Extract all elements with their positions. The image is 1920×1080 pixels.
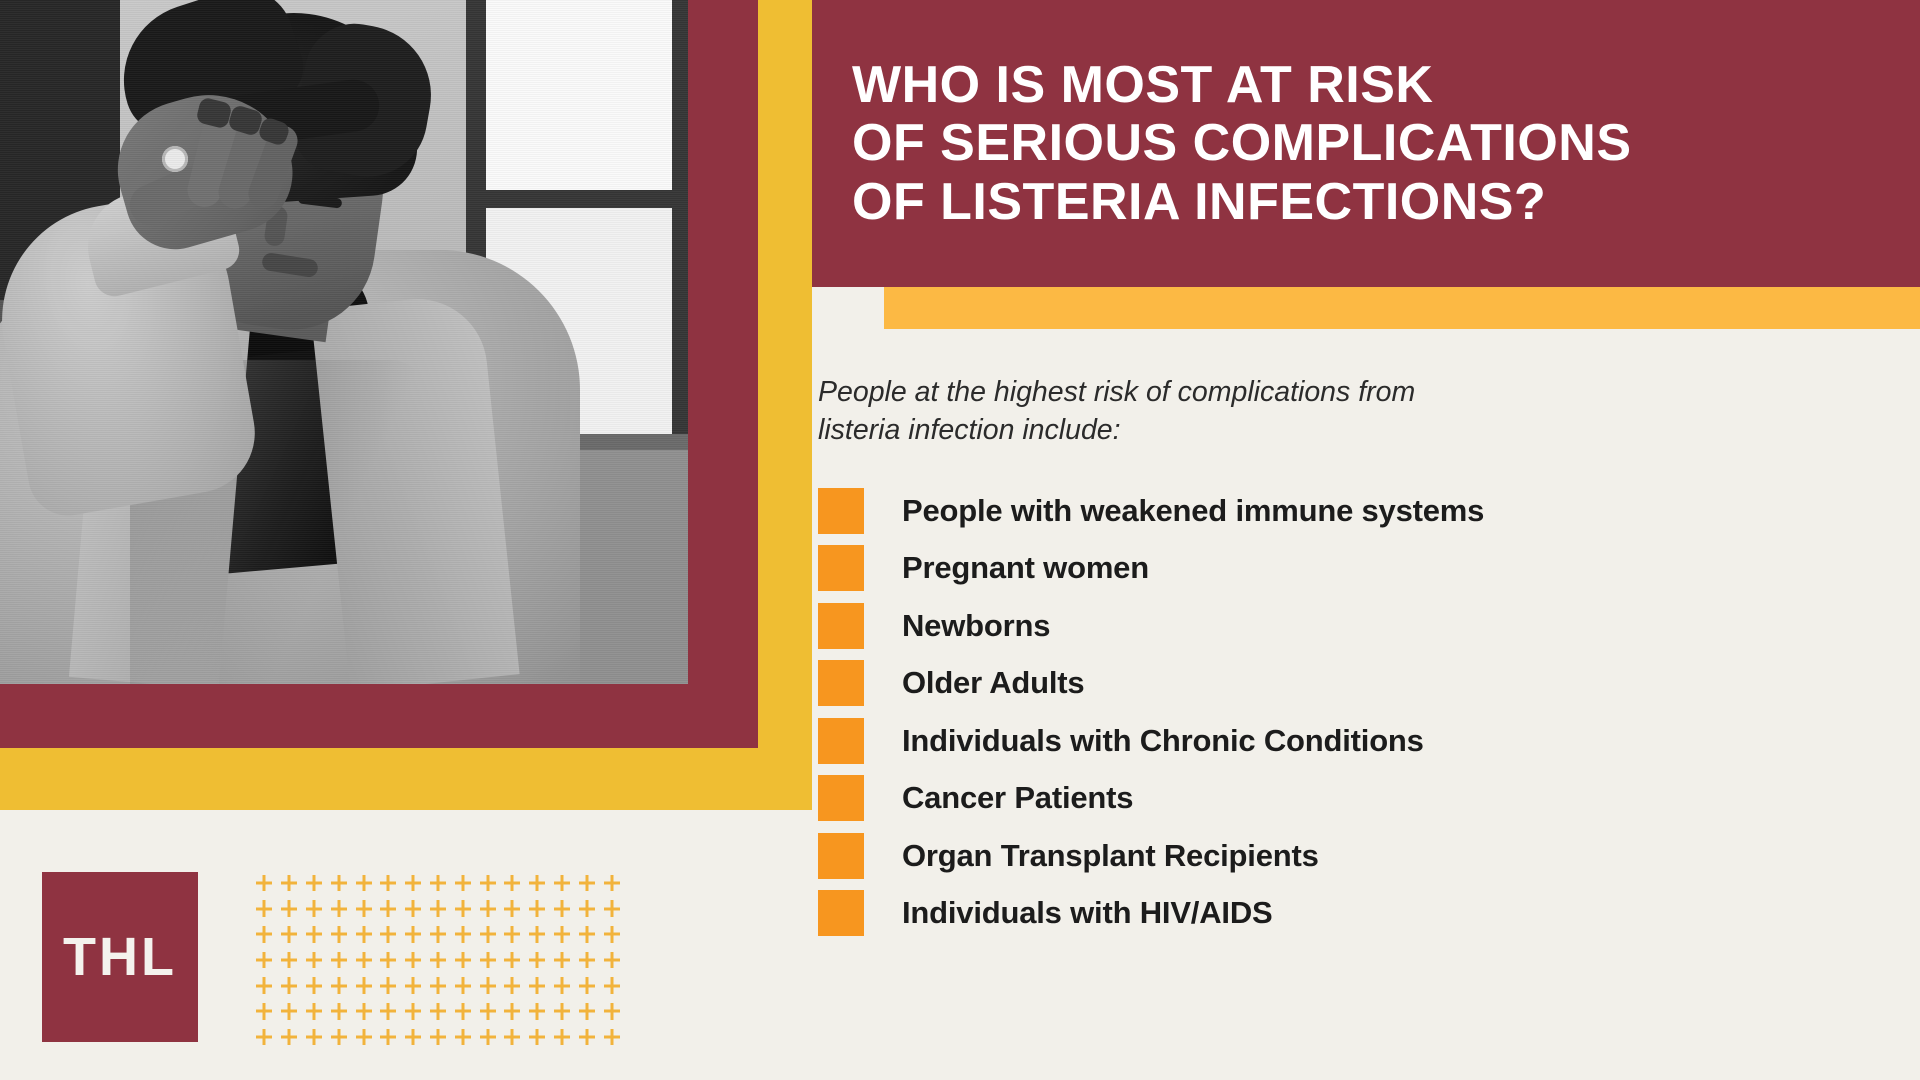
plus-icon <box>277 1024 302 1050</box>
plus-icon <box>426 973 451 999</box>
left-column: THL <box>0 0 812 1080</box>
plus-icon <box>525 896 550 922</box>
orange-square-bullet-icon <box>818 660 864 706</box>
plus-icon <box>450 921 475 947</box>
portrait-photo <box>0 0 688 684</box>
plus-icon <box>525 1024 550 1050</box>
plus-icon <box>475 947 500 973</box>
plus-icon <box>599 973 624 999</box>
plus-icon <box>550 1024 575 1050</box>
list-item-label: Older Adults <box>902 665 1084 701</box>
orange-square-bullet-icon <box>818 603 864 649</box>
orange-square-bullet-icon <box>818 718 864 764</box>
plus-icon <box>401 896 426 922</box>
list-item: Newborns <box>818 597 1908 655</box>
list-item: Pregnant women <box>818 540 1908 598</box>
plus-icon <box>450 947 475 973</box>
plus-icon <box>277 947 302 973</box>
plus-icon <box>450 870 475 896</box>
thl-logo[interactable]: THL <box>42 872 198 1042</box>
plus-icon <box>450 896 475 922</box>
plus-icon <box>376 947 401 973</box>
plus-icon <box>574 921 599 947</box>
plus-icon <box>351 947 376 973</box>
plus-icon <box>302 921 327 947</box>
plus-icon <box>426 896 451 922</box>
plus-icon <box>450 999 475 1025</box>
plus-icon <box>550 921 575 947</box>
list-item-label: Individuals with Chronic Conditions <box>902 723 1424 759</box>
title-block: WHO IS MOST AT RISK OF SERIOUS COMPLICAT… <box>812 0 1920 287</box>
plus-icon <box>351 999 376 1025</box>
plus-icon <box>426 1024 451 1050</box>
list-item-label: Cancer Patients <box>902 780 1133 816</box>
brand-row: THL <box>0 838 812 1080</box>
plus-icon <box>401 999 426 1025</box>
plus-icon <box>252 870 277 896</box>
plus-icon <box>277 973 302 999</box>
plus-icon <box>252 896 277 922</box>
plus-pattern-decoration <box>252 870 624 1050</box>
plus-icon <box>302 896 327 922</box>
plus-icon <box>475 1024 500 1050</box>
plus-icon <box>574 999 599 1025</box>
plus-icon <box>277 870 302 896</box>
plus-icon <box>376 999 401 1025</box>
plus-icon <box>426 947 451 973</box>
plus-icon <box>252 999 277 1025</box>
plus-icon <box>550 973 575 999</box>
plus-icon <box>475 973 500 999</box>
plus-icon <box>376 896 401 922</box>
plus-icon <box>401 921 426 947</box>
intro-paragraph: People at the highest risk of complicati… <box>818 374 1828 449</box>
plus-icon <box>351 921 376 947</box>
plus-icon <box>525 870 550 896</box>
plus-icon <box>401 1024 426 1050</box>
list-item-label: Pregnant women <box>902 550 1149 586</box>
plus-icon <box>426 870 451 896</box>
orange-square-bullet-icon <box>818 488 864 534</box>
yellow-accent-bar <box>884 287 1920 329</box>
list-item-label: Newborns <box>902 608 1050 644</box>
plus-icon <box>351 973 376 999</box>
plus-icon <box>302 947 327 973</box>
list-item: People with weakened immune systems <box>818 482 1908 540</box>
plus-icon <box>525 947 550 973</box>
plus-icon <box>599 896 624 922</box>
plus-icon <box>475 999 500 1025</box>
orange-square-bullet-icon <box>818 545 864 591</box>
orange-square-bullet-icon <box>818 833 864 879</box>
thl-logo-text: THL <box>63 930 177 984</box>
plus-icon <box>326 921 351 947</box>
list-item-label: Individuals with HIV/AIDS <box>902 895 1272 931</box>
plus-icon <box>450 1024 475 1050</box>
plus-icon <box>525 973 550 999</box>
plus-icon <box>302 999 327 1025</box>
plus-icon <box>599 947 624 973</box>
list-item: Individuals with Chronic Conditions <box>818 712 1908 770</box>
plus-icon <box>302 1024 327 1050</box>
plus-icon <box>302 870 327 896</box>
plus-icon <box>277 999 302 1025</box>
plus-icon <box>252 921 277 947</box>
plus-icon <box>376 870 401 896</box>
list-item-label: Organ Transplant Recipients <box>902 838 1319 874</box>
plus-icon <box>574 947 599 973</box>
plus-icon <box>550 896 575 922</box>
right-column: WHO IS MOST AT RISK OF SERIOUS COMPLICAT… <box>812 0 1920 1080</box>
plus-icon <box>351 896 376 922</box>
plus-icon <box>302 973 327 999</box>
plus-icon <box>326 870 351 896</box>
plus-icon <box>500 973 525 999</box>
plus-icon <box>525 999 550 1025</box>
plus-icon <box>500 896 525 922</box>
plus-icon <box>500 870 525 896</box>
list-item: Cancer Patients <box>818 770 1908 828</box>
plus-icon <box>401 870 426 896</box>
plus-icon <box>599 1024 624 1050</box>
plus-icon <box>599 921 624 947</box>
plus-icon <box>252 947 277 973</box>
list-item-label: People with weakened immune systems <box>902 493 1484 529</box>
plus-icon <box>574 973 599 999</box>
plus-icon <box>475 921 500 947</box>
plus-icon <box>326 1024 351 1050</box>
plus-icon <box>599 999 624 1025</box>
plus-icon <box>401 947 426 973</box>
plus-icon <box>574 896 599 922</box>
plus-icon <box>426 999 451 1025</box>
plus-icon <box>599 870 624 896</box>
plus-icon <box>475 896 500 922</box>
plus-icon <box>326 947 351 973</box>
plus-icon <box>376 921 401 947</box>
plus-icon <box>277 896 302 922</box>
plus-icon <box>426 921 451 947</box>
plus-icon <box>500 921 525 947</box>
orange-square-bullet-icon <box>818 775 864 821</box>
plus-icon <box>326 999 351 1025</box>
orange-square-bullet-icon <box>818 890 864 936</box>
plus-icon <box>376 973 401 999</box>
plus-icon <box>376 1024 401 1050</box>
photo-grain-overlay <box>0 0 688 684</box>
plus-icon <box>351 870 376 896</box>
plus-icon <box>574 1024 599 1050</box>
plus-icon <box>326 973 351 999</box>
list-item: Individuals with HIV/AIDS <box>818 885 1908 943</box>
plus-icon <box>500 1024 525 1050</box>
plus-icon <box>252 1024 277 1050</box>
list-item: Older Adults <box>818 655 1908 713</box>
list-item: Organ Transplant Recipients <box>818 827 1908 885</box>
plus-icon <box>500 999 525 1025</box>
risk-list: People with weakened immune systems Preg… <box>818 482 1908 942</box>
plus-icon <box>351 1024 376 1050</box>
plus-icon <box>401 973 426 999</box>
page-title: WHO IS MOST AT RISK OF SERIOUS COMPLICAT… <box>812 56 1632 231</box>
plus-icon <box>550 999 575 1025</box>
plus-icon <box>450 973 475 999</box>
plus-icon <box>500 947 525 973</box>
plus-icon <box>475 870 500 896</box>
plus-icon <box>550 870 575 896</box>
plus-icon <box>550 947 575 973</box>
plus-icon <box>252 973 277 999</box>
plus-icon <box>326 896 351 922</box>
plus-icon <box>525 921 550 947</box>
plus-icon <box>574 870 599 896</box>
plus-icon <box>277 921 302 947</box>
